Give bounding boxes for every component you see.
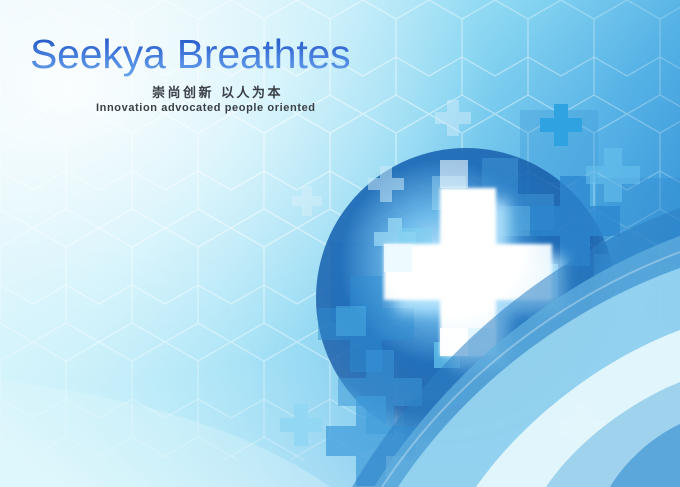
bottom-left-wash	[0, 380, 330, 487]
decorative-cross	[292, 186, 322, 216]
poster-canvas: Seekya Breathtes 崇尚创新 以人为本 Innovation ad…	[0, 0, 680, 487]
decorative-cross	[435, 100, 471, 136]
decorative-cross	[280, 404, 322, 446]
graphics-layer	[0, 0, 680, 487]
